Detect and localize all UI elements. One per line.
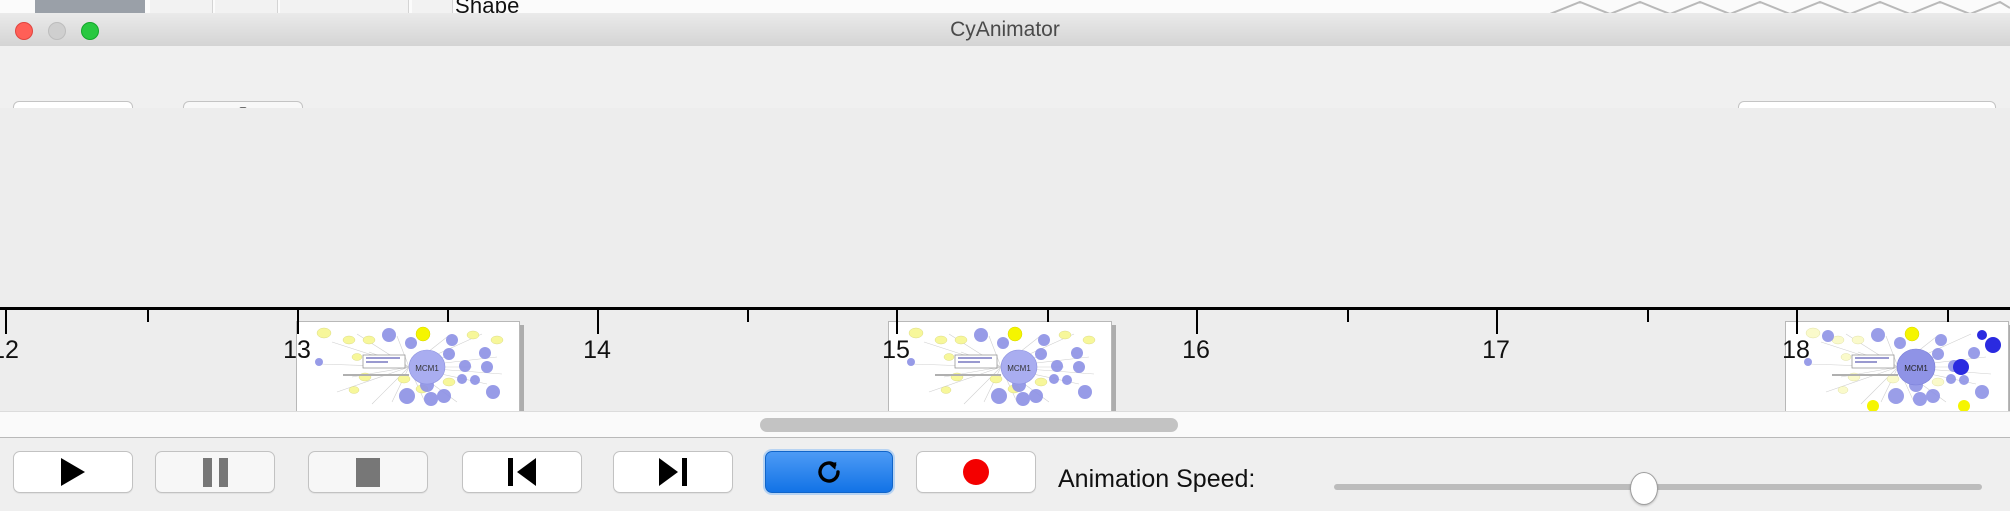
background-cell <box>412 0 453 13</box>
loop-icon <box>814 457 844 487</box>
axis-tick-minor <box>447 310 449 322</box>
stop-icon <box>356 458 380 487</box>
axis-tick-minor <box>1347 310 1349 322</box>
timeline-frame-thumbnail[interactable]: MCM1 <box>888 321 1112 411</box>
next-frame-button[interactable] <box>613 451 733 493</box>
axis-tick-major <box>597 310 599 334</box>
axis-tick-label: 13 <box>283 336 311 365</box>
axis-tick-minor <box>1647 310 1649 322</box>
title-bar[interactable]: CyAnimator <box>0 13 2010 47</box>
axis-tick-major <box>1196 310 1198 334</box>
timeline-scrollbar[interactable] <box>0 411 2010 439</box>
axis-tick-major <box>297 310 299 334</box>
axis-tick-minor <box>747 310 749 322</box>
animation-speed-slider[interactable] <box>1334 484 1982 490</box>
animation-speed-label: Animation Speed: <box>1058 465 1255 494</box>
axis-tick-major <box>1796 310 1798 334</box>
axis-tick-label: 14 <box>583 336 611 365</box>
transport-bar: Animation Speed: <box>0 437 2010 511</box>
stop-button[interactable] <box>308 451 428 493</box>
background-cell <box>215 0 278 13</box>
axis-tick-label: 17 <box>1482 336 1510 365</box>
timeline-panel[interactable]: MCM1 <box>0 108 2010 411</box>
network-graph-icon: MCM1 <box>1786 322 2008 411</box>
scrollbar-thumb[interactable] <box>760 418 1178 432</box>
animation-speed-slider-thumb[interactable] <box>1630 472 1658 505</box>
axis-tick-label: 16 <box>1182 336 1210 365</box>
axis-tick-minor <box>1947 310 1949 322</box>
loop-button[interactable] <box>765 451 893 493</box>
axis-tick-minor <box>1047 310 1049 322</box>
timeline-frame-thumbnail[interactable]: MCM1 <box>1785 321 2009 411</box>
network-graph-icon: MCM1 <box>889 322 1111 411</box>
background-tab <box>35 0 145 13</box>
window-title: CyAnimator <box>0 13 2010 46</box>
axis-tick-major <box>896 310 898 334</box>
background-cell <box>280 0 409 13</box>
svg-text:MCM1: MCM1 <box>1904 364 1928 373</box>
network-graph-icon: MCM1 <box>297 322 519 411</box>
pause-button[interactable] <box>155 451 275 493</box>
background-mesh-icon <box>1550 0 2010 13</box>
svg-text:MCM1: MCM1 <box>415 364 439 373</box>
axis-tick-minor <box>147 310 149 322</box>
record-button[interactable] <box>916 451 1036 493</box>
skip-back-icon <box>508 458 536 486</box>
record-icon <box>963 459 989 485</box>
axis-tick-major <box>1496 310 1498 334</box>
play-button[interactable] <box>13 451 133 493</box>
background-cell <box>150 0 213 13</box>
play-icon <box>61 458 85 486</box>
timeline-axis-line <box>0 307 2010 310</box>
toolbar: Clear All Frames <box>0 46 2010 109</box>
cyanimator-window: Shape CyAnimator Clea <box>0 0 2010 510</box>
pause-icon <box>203 458 228 487</box>
axis-tick-label: 15 <box>882 336 910 365</box>
previous-frame-button[interactable] <box>462 451 582 493</box>
timeline-frame-thumbnail[interactable]: MCM1 <box>296 321 520 411</box>
axis-tick-major <box>5 310 7 334</box>
skip-forward-icon <box>659 458 687 486</box>
axis-tick-label: 12 <box>0 336 19 365</box>
axis-tick-label: 18 <box>1782 336 1810 365</box>
svg-text:MCM1: MCM1 <box>1007 364 1031 373</box>
